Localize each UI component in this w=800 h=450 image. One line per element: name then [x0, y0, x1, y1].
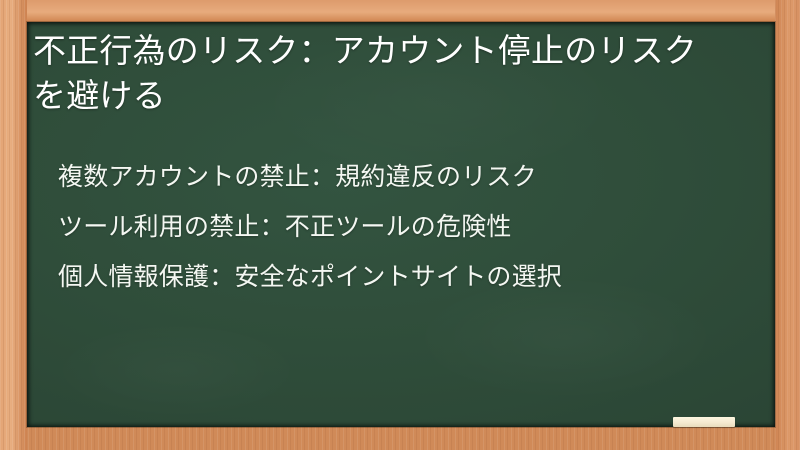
frame-right-rail — [775, 0, 800, 450]
page-title: 不正行為のリスク：アカウント停止のリスクを避ける — [33, 28, 723, 118]
frame-left-rail — [0, 0, 27, 450]
list-item: ツール利用の禁止：不正ツールの危険性 — [58, 202, 738, 252]
list-item: 複数アカウントの禁止：規約違反のリスク — [58, 152, 738, 202]
chalk-stick-icon — [673, 417, 735, 427]
bullet-list: 複数アカウントの禁止：規約違反のリスク ツール利用の禁止：不正ツールの危険性 個… — [58, 152, 738, 302]
list-item: 個人情報保護：安全なポイントサイトの選択 — [58, 252, 738, 302]
chalkboard-slide: 不正行為のリスク：アカウント停止のリスクを避ける 複数アカウントの禁止：規約違反… — [0, 0, 800, 450]
frame-top-rail — [0, 0, 800, 22]
